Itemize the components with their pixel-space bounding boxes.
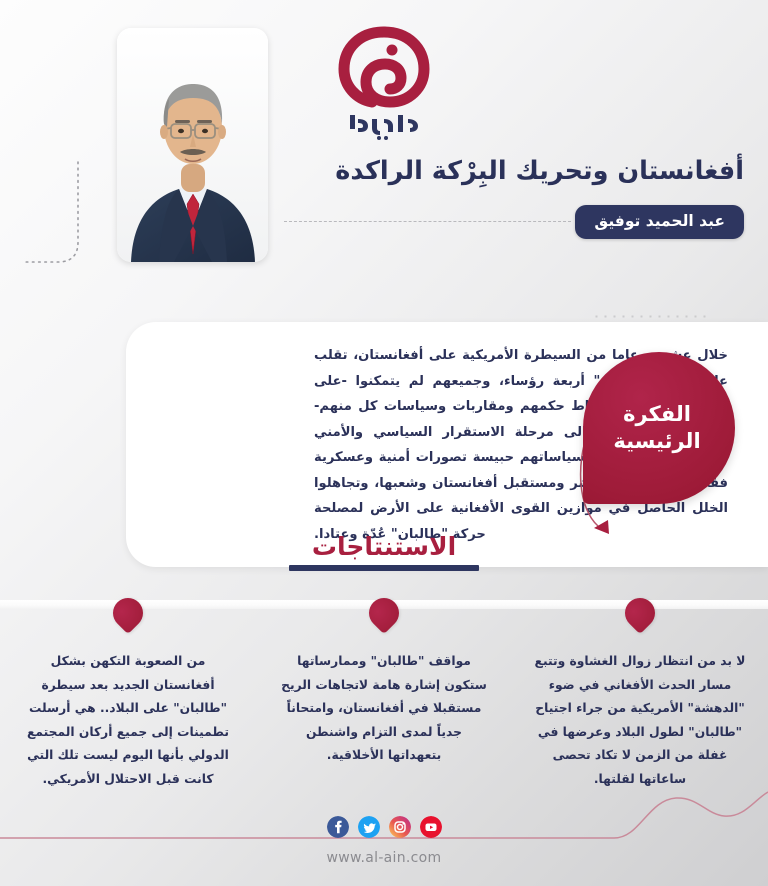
instagram-icon[interactable] bbox=[389, 816, 411, 838]
brand-logo bbox=[0, 26, 768, 146]
conclusion-text: لا بد من انتظار زوال الغشاوة وتتبع مسار … bbox=[534, 650, 746, 792]
twitter-icon[interactable] bbox=[358, 816, 380, 838]
youtube-icon[interactable] bbox=[420, 816, 442, 838]
speech-bubble-icon bbox=[107, 592, 149, 634]
page-title: أفغانستان وتحريك البِرْكة الراكدة bbox=[264, 155, 744, 189]
conclusions-title: الاستنتاجات bbox=[312, 532, 456, 561]
al-ain-ayn-logo-icon bbox=[332, 26, 436, 110]
conclusions-columns: لا بد من انتظار زوال الغشاوة وتتبع مسار … bbox=[0, 596, 768, 808]
main-idea-badge: الفكرة الرئيسية bbox=[583, 352, 735, 504]
byline-dashed-rule bbox=[284, 221, 571, 222]
conclusions-underline bbox=[289, 565, 479, 571]
conclusion-text: من الصعوبة التكهن بشكل أفغانستان الجديد … bbox=[22, 650, 234, 792]
conclusion-text: مواقف "طالبان" وممارساتها ستكون إشارة ها… bbox=[278, 650, 490, 768]
conclusion-item-1: من الصعوبة التكهن بشكل أفغانستان الجديد … bbox=[0, 596, 256, 808]
facebook-icon[interactable] bbox=[327, 816, 349, 838]
main-idea-badge-label: الفكرة الرئيسية bbox=[583, 401, 735, 455]
social-links[interactable] bbox=[0, 816, 768, 838]
speech-bubble-icon bbox=[363, 592, 405, 634]
conclusions-header: الاستنتاجات bbox=[0, 532, 768, 571]
infographic-canvas: أفغانستان وتحريك البِرْكة الراكدة عبد ال… bbox=[0, 0, 768, 886]
conclusion-item-2: مواقف "طالبان" وممارساتها ستكون إشارة ها… bbox=[256, 596, 512, 808]
title-block: أفغانستان وتحريك البِرْكة الراكدة عبد ال… bbox=[264, 155, 744, 239]
byline: عبد الحميد توفيق bbox=[264, 205, 744, 239]
author-name-badge: عبد الحميد توفيق bbox=[575, 205, 744, 239]
conclusion-item-3: لا بد من انتظار زوال الغشاوة وتتبع مسار … bbox=[512, 596, 768, 808]
speech-bubble-icon bbox=[619, 592, 661, 634]
title-bracket-decoration bbox=[22, 158, 80, 270]
site-url[interactable]: www.al-ain.com bbox=[0, 850, 768, 866]
brand-wordmark-icon bbox=[346, 111, 422, 141]
